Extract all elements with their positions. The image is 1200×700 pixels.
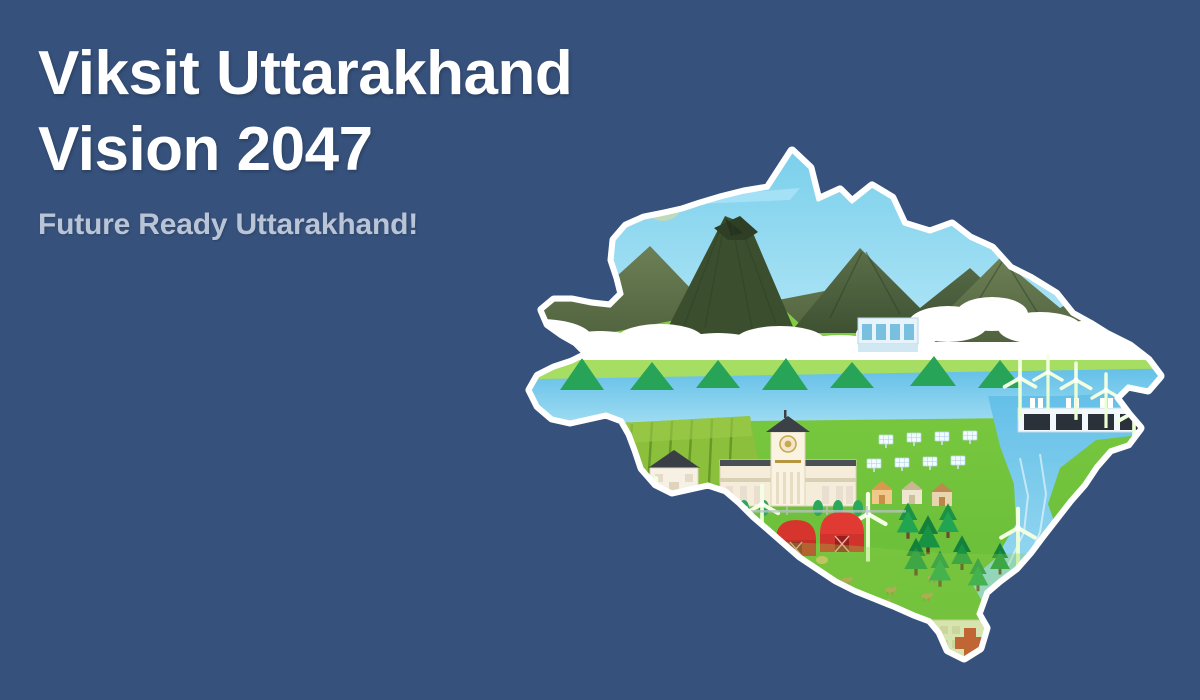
vision-banner: Viksit Uttarakhand Vision 2047 Future Re… [0, 0, 1200, 700]
civic-building [774, 636, 826, 673]
heading-block: Viksit Uttarakhand Vision 2047 Future Re… [38, 36, 558, 244]
temple [922, 670, 1018, 673]
hydro-dam [858, 318, 918, 352]
page-title-line-2: Vision 2047 [38, 112, 558, 188]
police-station [842, 626, 922, 673]
orchard-cluster [561, 439, 581, 461]
page-subtitle: Future Ready Uttarakhand! [38, 206, 558, 244]
map-svg [500, 128, 1200, 673]
village-houses [871, 481, 953, 506]
uttarakhand-map-illustration [500, 128, 1200, 673]
page-title-line-1: Viksit Uttarakhand [38, 36, 558, 112]
scales-of-justice [536, 500, 608, 572]
